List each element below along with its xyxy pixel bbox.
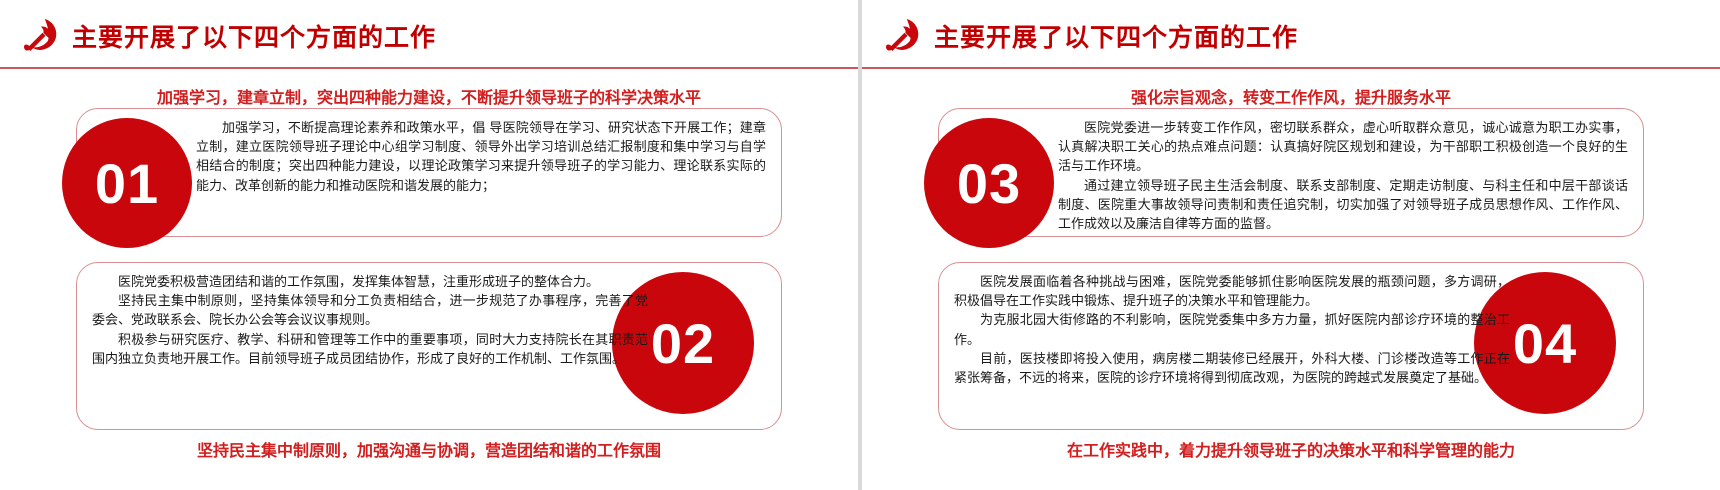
slide-right: 主要开展了以下四个方面的工作 强化宗旨观念，转变工作作风，提升服务水平 03 医… bbox=[862, 0, 1720, 490]
body-text-01: 加强学习，不断提高理论素养和政策水平，倡 导医院领导在学习、研究状态下开展工作；… bbox=[196, 118, 766, 195]
header-divider-rule bbox=[862, 67, 1720, 69]
section-heading-left: 加强学习，建章立制，突出四种能力建设，不断提升领导班子的科学决策水平 bbox=[0, 84, 858, 108]
page-title: 主要开展了以下四个方面的工作 bbox=[72, 18, 436, 54]
paragraph: 医院党委积极营造团结和谐的工作氛围，发挥集体智慧，注重形成班子的整体合力。 bbox=[92, 272, 648, 291]
number-badge-03: 03 bbox=[924, 118, 1054, 248]
slide-deck: 主要开展了以下四个方面的工作 加强学习，建章立制，突出四种能力建设，不断提升领导… bbox=[0, 0, 1720, 490]
paragraph: 通过建立领导班子民主生活会制度、联系支部制度、定期走访制度、与科主任和中层干部谈… bbox=[1058, 176, 1628, 234]
paragraph: 为克服北园大街修路的不利影响，医院党委集中多方力量，抓好医院内部诊疗环境的整治工… bbox=[954, 310, 1510, 348]
paragraph: 积极参与研究医疗、教学、科研和管理等工作中的重要事项，同时大力支持院长在其职责范… bbox=[92, 330, 648, 368]
header-divider-rule bbox=[0, 67, 858, 69]
body-text-04: 医院发展面临着各种挑战与困难，医院党委能够抓住影响医院发展的瓶颈问题，多方调研，… bbox=[954, 272, 1510, 387]
body-text-02: 医院党委积极营造团结和谐的工作氛围，发挥集体智慧，注重形成班子的整体合力。 坚持… bbox=[92, 272, 648, 368]
paragraph: 目前，医技楼即将投入使用，病房楼二期装修已经展开，外科大楼、门诊楼改造等工作正在… bbox=[954, 349, 1510, 387]
slide-left: 主要开展了以下四个方面的工作 加强学习，建章立制，突出四种能力建设，不断提升领导… bbox=[0, 0, 858, 490]
page-title: 主要开展了以下四个方面的工作 bbox=[934, 18, 1298, 54]
paragraph: 加强学习，不断提高理论素养和政策水平，倡 导医院领导在学习、研究状态下开展工作；… bbox=[196, 118, 766, 195]
paragraph: 医院党委进一步转变工作作风，密切联系群众，虚心听取群众意见，诚心诚意为职工办实事… bbox=[1058, 118, 1628, 176]
bottom-caption-left: 坚持民主集中制原则，加强沟通与协调，营造团结和谐的工作氛围 bbox=[0, 437, 858, 461]
party-emblem-icon bbox=[22, 16, 60, 54]
body-text-03: 医院党委进一步转变工作作风，密切联系群众，虚心听取群众意见，诚心诚意为职工办实事… bbox=[1058, 118, 1628, 233]
number-badge-01: 01 bbox=[62, 118, 192, 248]
slide-header-right: 主要开展了以下四个方面的工作 bbox=[862, 0, 1720, 68]
party-emblem-icon bbox=[884, 16, 922, 54]
paragraph: 医院发展面临着各种挑战与困难，医院党委能够抓住影响医院发展的瓶颈问题，多方调研，… bbox=[954, 272, 1510, 310]
paragraph: 坚持民主集中制原则，坚持集体领导和分工负责相结合，进一步规范了办事程序，完善了党… bbox=[92, 291, 648, 329]
bottom-caption-right: 在工作实践中，着力提升领导班子的决策水平和科学管理的能力 bbox=[862, 437, 1720, 461]
slide-header-left: 主要开展了以下四个方面的工作 bbox=[0, 0, 858, 68]
section-heading-right: 强化宗旨观念，转变工作作风，提升服务水平 bbox=[862, 84, 1720, 108]
